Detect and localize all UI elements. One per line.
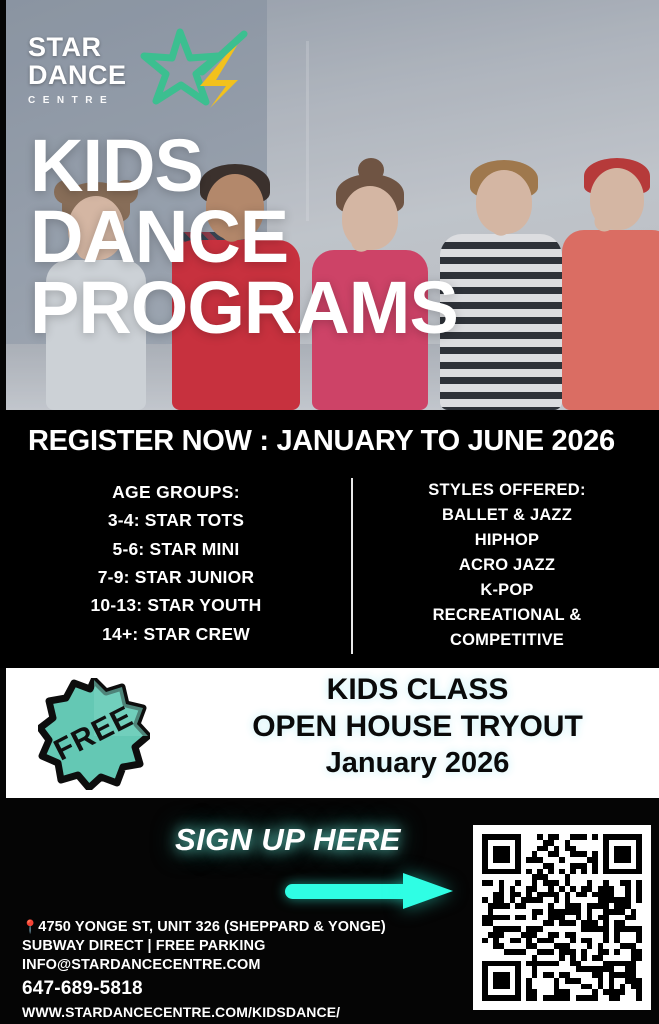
styles-heading: STYLES OFFERED:	[357, 478, 657, 503]
register-banner: REGISTER NOW : JANUARY TO JUNE 2026	[0, 410, 659, 472]
register-text: REGISTER NOW : JANUARY TO JUNE 2026	[0, 425, 615, 458]
signup-label: SIGN UP HERE	[175, 822, 401, 858]
open-house-line-3: January 2026	[176, 745, 659, 782]
address-row: 📍4750 YONGE ST, UNIT 326 (SHEPPARD & YON…	[22, 918, 386, 937]
email-text[interactable]: INFO@STARDANCECENTRE.COM	[22, 956, 386, 975]
info-section: AGE GROUPS: 3-4: STAR TOTS 5-6: STAR MIN…	[0, 472, 659, 668]
headline-line-2: DANCE	[30, 201, 458, 272]
logo-line-1: STAR	[28, 34, 127, 62]
phone-text[interactable]: 647-689-5818	[22, 975, 386, 1004]
styles-column: STYLES OFFERED: BALLET & JAZZ HIPHOP ACR…	[357, 478, 657, 654]
column-divider	[351, 478, 353, 654]
style-item: COMPETITIVE	[357, 628, 657, 653]
age-groups-heading: AGE GROUPS:	[6, 478, 346, 506]
transit-text: SUBWAY DIRECT | FREE PARKING	[22, 937, 386, 956]
open-house-line-2: OPEN HOUSE TRYOUT	[176, 709, 659, 745]
right-arrow-icon	[285, 873, 455, 909]
age-group-item: 7-9: STAR JUNIOR	[6, 563, 346, 591]
age-group-item: 14+: STAR CREW	[6, 620, 346, 648]
address-text: 4750 YONGE ST, UNIT 326 (SHEPPARD & YONG…	[38, 919, 385, 935]
age-group-item: 3-4: STAR TOTS	[6, 506, 346, 534]
poster-root: STAR DANCE CENTRE KIDS DANCE PROGRAMS RE…	[0, 0, 659, 1024]
open-house-band: FREE KIDS CLASS OPEN HOUSE TRYOUT Januar…	[6, 668, 659, 798]
contact-block: 📍4750 YONGE ST, UNIT 326 (SHEPPARD & YON…	[22, 918, 386, 1021]
website-text[interactable]: WWW.STARDANCECENTRE.COM/KIDSDANCE/	[22, 1004, 386, 1021]
qr-code[interactable]	[473, 825, 651, 1010]
age-group-item: 5-6: STAR MINI	[6, 535, 346, 563]
star-swoosh-icon	[140, 28, 250, 112]
headline-line-1: KIDS	[30, 130, 458, 201]
logo-subtitle: CENTRE	[28, 95, 127, 106]
location-pin-icon: 📍	[22, 919, 38, 934]
age-group-item: 10-13: STAR YOUTH	[6, 591, 346, 619]
free-badge: FREE	[38, 678, 150, 790]
brand-logo: STAR DANCE CENTRE	[28, 34, 127, 106]
style-item: BALLET & JAZZ	[357, 503, 657, 528]
qr-code-icon[interactable]	[482, 834, 642, 1001]
logo-line-2: DANCE	[28, 62, 127, 90]
style-item: ACRO JAZZ	[357, 553, 657, 578]
style-item: K-POP	[357, 578, 657, 603]
headline-line-3: PROGRAMS	[30, 272, 458, 343]
style-item: HIPHOP	[357, 528, 657, 553]
open-house-line-1: KIDS CLASS	[176, 672, 659, 709]
page-title: KIDS DANCE PROGRAMS	[30, 130, 458, 343]
style-item: RECREATIONAL &	[357, 603, 657, 628]
age-groups-column: AGE GROUPS: 3-4: STAR TOTS 5-6: STAR MIN…	[6, 478, 346, 648]
open-house-text: KIDS CLASS OPEN HOUSE TRYOUT January 202…	[176, 672, 659, 782]
